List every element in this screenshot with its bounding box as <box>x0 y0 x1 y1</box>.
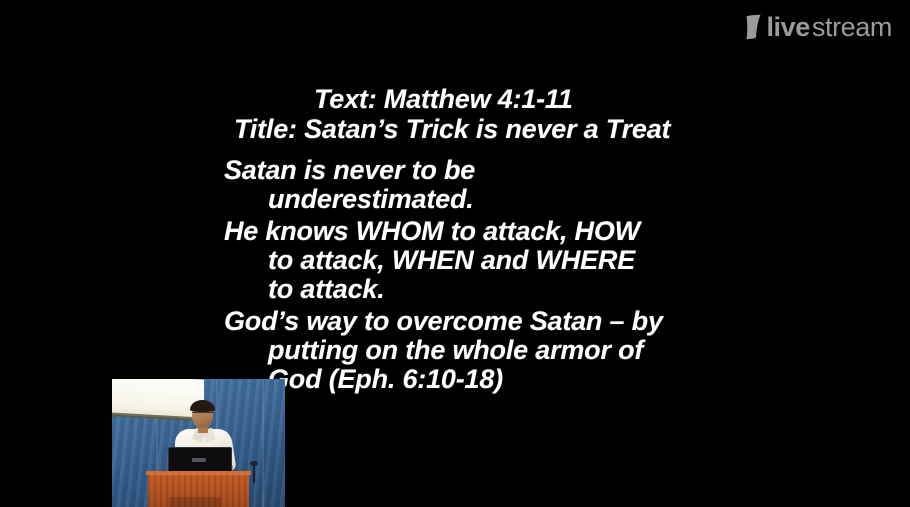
slide-scripture-reference: Text: Matthew 4:1-11 <box>314 84 573 115</box>
mic-stand-pole <box>253 465 255 483</box>
slide-point-3-line-2: putting on the whole armor of <box>268 336 643 365</box>
pip-video-speaker-feed[interactable] <box>112 379 285 507</box>
slide-point-3-line-3: God (Eph. 6:10-18) <box>268 365 503 394</box>
podium-front-panel <box>169 497 221 507</box>
slide-point-1-line-2: underestimated. <box>268 185 474 214</box>
curtain-fold <box>262 379 264 507</box>
eyeglasses <box>192 412 213 417</box>
pip-scene <box>112 379 285 507</box>
slide-point-2-line-2: to attack, WHEN and WHERE <box>268 246 635 275</box>
slide-point-2-line-3: to attack. <box>268 275 385 304</box>
livestream-player-stage: live stream Text: Matthew 4:1-11 Title: … <box>0 0 910 507</box>
speaker-hair <box>190 400 215 412</box>
slide-point-2-line-1: He knows WHOM to attack, HOW <box>224 217 640 246</box>
slide-point-3-line-1: God’s way to overcome Satan – by <box>224 307 663 336</box>
slide-point-1-line-1: Satan is never to be <box>224 156 475 185</box>
laptop-logo <box>192 458 206 462</box>
slide-sermon-title: Title: Satan’s Trick is never a Treat <box>234 114 670 145</box>
